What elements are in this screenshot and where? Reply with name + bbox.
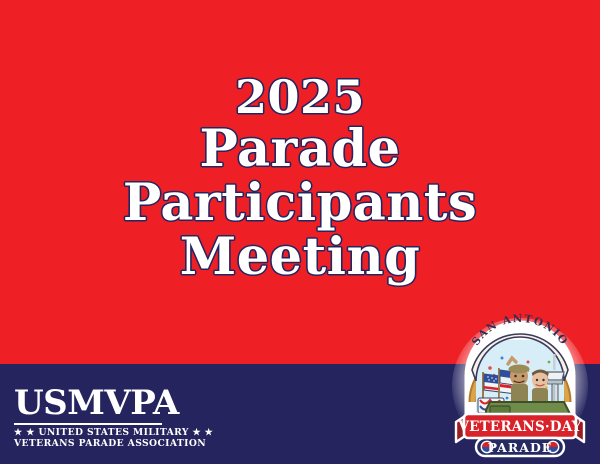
second-soldier-icon [532, 370, 549, 406]
parade-pill-text: PARADE [488, 440, 553, 455]
badge-arc-text: SAN ANTONIO [470, 313, 571, 348]
usmvpa-wordmark: USMVPA [14, 386, 214, 420]
veterans-day-parade-badge: SAN ANTONIO [446, 310, 594, 460]
veterans-day-ribbon: VETERANS·DAY [456, 414, 584, 442]
bunting-icon [478, 398, 504, 413]
military-jeep-icon [486, 402, 574, 444]
usmvpa-subtitle-line-2: VETERANS PARADE ASSOCIATION [14, 438, 214, 449]
poster-canvas: 2025 Parade Participants Meeting USMVPA … [0, 0, 600, 464]
soldier-icon [508, 358, 530, 404]
parade-pill: PARADE [476, 438, 564, 456]
headline-line-parade: Parade [0, 124, 600, 175]
sky-backdrop [474, 340, 566, 420]
usmvpa-divider-rule [14, 423, 162, 425]
svg-text:SAN ANTONIO: SAN ANTONIO [470, 313, 571, 348]
headline-line-participants: Participants [0, 178, 600, 229]
badge-artwork: SAN ANTONIO [446, 310, 594, 460]
headline-line-meeting: Meeting [0, 232, 600, 283]
confetti-icon [488, 357, 550, 400]
headline-block: 2025 Parade Participants Meeting [0, 74, 600, 283]
american-flag-icon [482, 372, 516, 416]
headline-year: 2025 [0, 74, 600, 120]
ribbon-text: VETERANS·DAY [457, 419, 581, 435]
tower-of-the-americas-icon [546, 354, 564, 410]
san-antonio-arc-banner: SAN ANTONIO [470, 313, 571, 381]
usmvpa-subtitle-line-1: ★ ★ UNITED STATES MILITARY ★ ★ [14, 427, 214, 438]
usmvpa-logo: USMVPA ★ ★ UNITED STATES MILITARY ★ ★ VE… [14, 386, 214, 449]
badge-sticker-outline [468, 324, 572, 414]
second-flag-icon [498, 368, 522, 416]
rope-arch-icon [473, 355, 567, 402]
